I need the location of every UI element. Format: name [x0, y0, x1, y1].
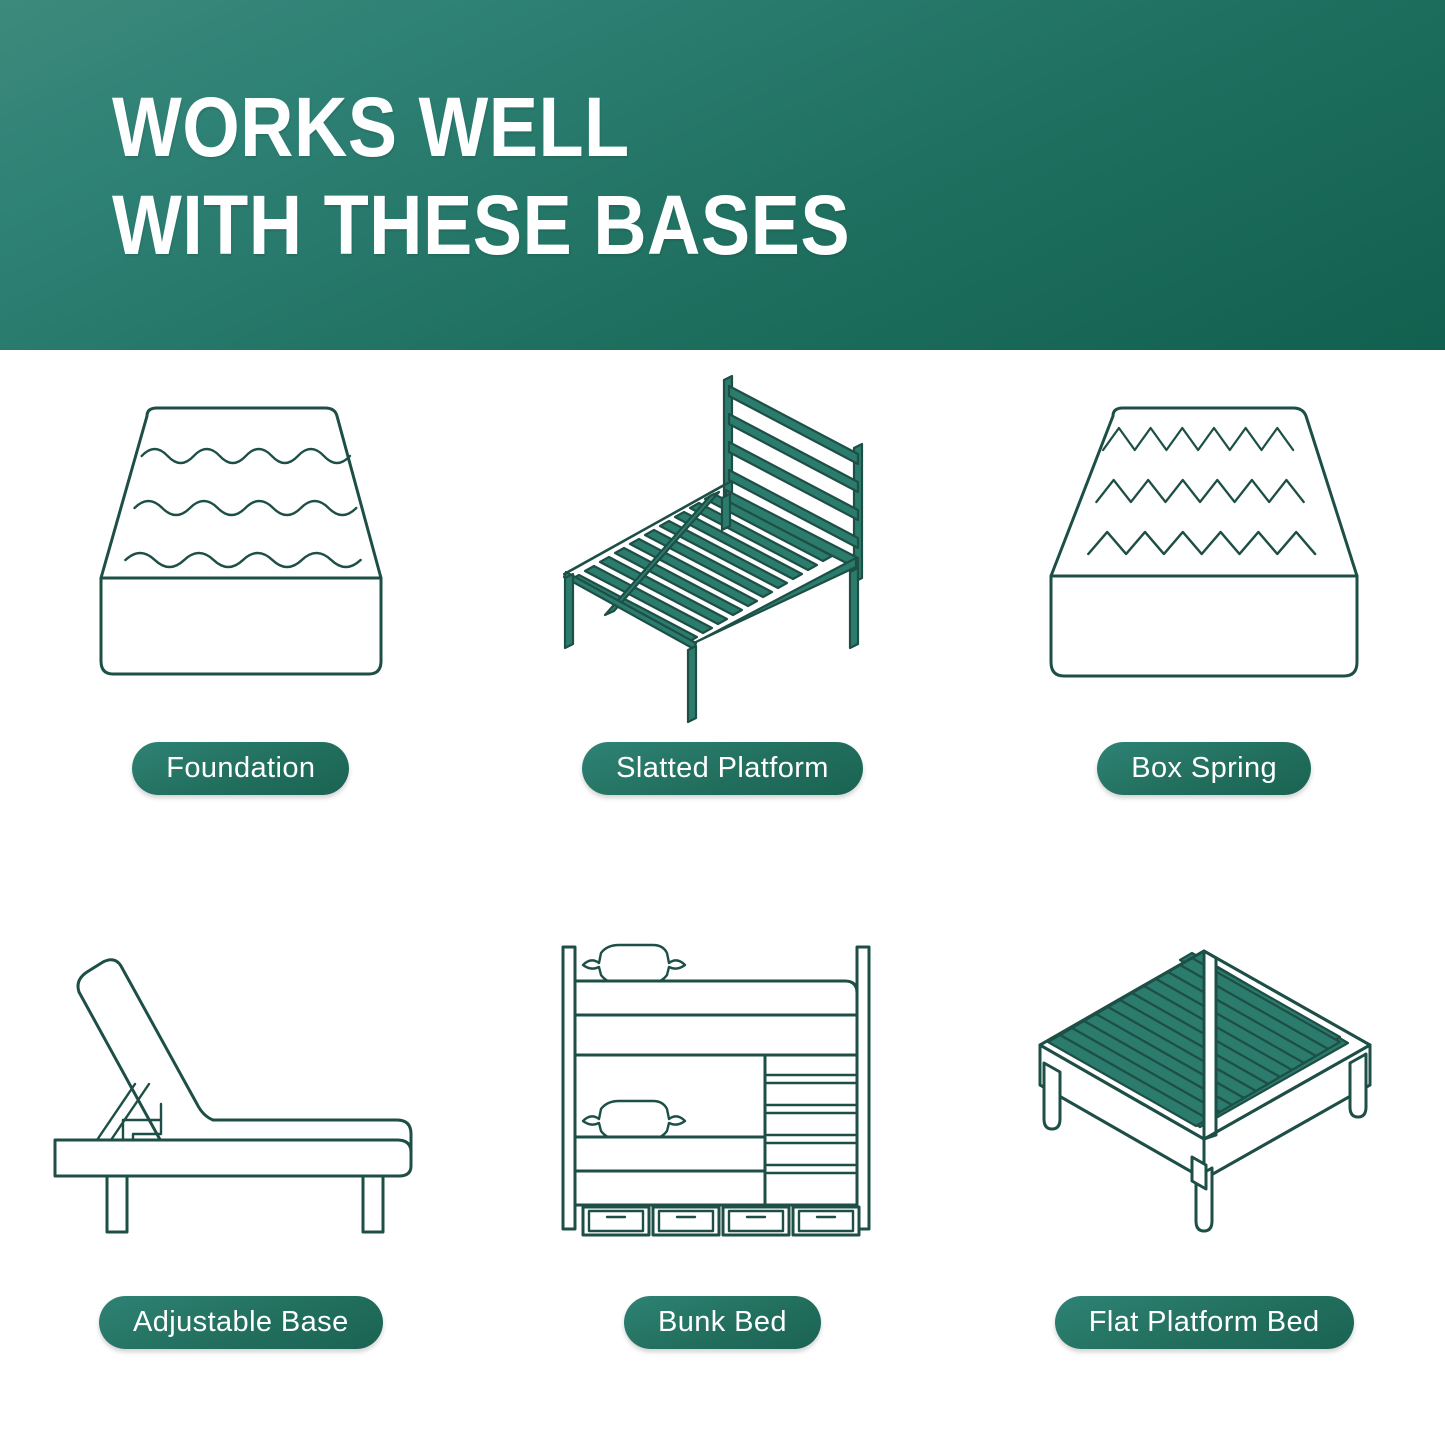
- base-card-box-spring: Box Spring: [963, 350, 1445, 898]
- base-card-adjustable-base: Adjustable Base: [0, 898, 482, 1445]
- base-card-flat-platform-bed: Flat Platform Bed: [963, 898, 1445, 1445]
- base-label-adjustable-base[interactable]: Adjustable Base: [99, 1296, 383, 1349]
- bases-grid: Foundation: [0, 350, 1445, 1445]
- header-banner: WORKS WELL WITH THESE BASES: [0, 0, 1445, 350]
- bunk-bed-icon: [557, 929, 887, 1259]
- headline-line-1: WORKS WELL: [112, 78, 1250, 176]
- base-card-slatted-platform: Slatted Platform: [482, 350, 964, 898]
- box-spring-illustration: [963, 350, 1445, 742]
- base-label-box-spring[interactable]: Box Spring: [1097, 742, 1311, 795]
- base-label-slatted-platform[interactable]: Slatted Platform: [582, 742, 863, 795]
- headline-line-2: WITH THESE BASES: [112, 176, 1250, 274]
- foundation-illustration: [0, 350, 482, 742]
- flat-platform-bed-illustration: [963, 898, 1445, 1290]
- adjustable-base-illustration: [0, 898, 482, 1290]
- base-label-flat-platform-bed[interactable]: Flat Platform Bed: [1055, 1296, 1354, 1349]
- base-card-bunk-bed: Bunk Bed: [482, 898, 964, 1445]
- slatted-platform-bed-icon: [536, 366, 908, 726]
- bunk-bed-illustration: [482, 898, 964, 1290]
- base-label-foundation[interactable]: Foundation: [132, 742, 349, 795]
- bunk-bed-drawers: [583, 1207, 859, 1235]
- header-text-block: WORKS WELL WITH THESE BASES: [112, 78, 1405, 274]
- foundation-mattress-icon: [71, 386, 411, 706]
- adjustable-base-icon: [45, 944, 437, 1244]
- infographic-page: WORKS WELL WITH THESE BASES Foundation: [0, 0, 1445, 1445]
- base-label-bunk-bed[interactable]: Bunk Bed: [624, 1296, 821, 1349]
- slatted-platform-illustration: [482, 350, 964, 742]
- flat-platform-bed-icon: [1018, 939, 1390, 1249]
- base-card-foundation: Foundation: [0, 350, 482, 898]
- box-spring-icon: [1029, 386, 1379, 706]
